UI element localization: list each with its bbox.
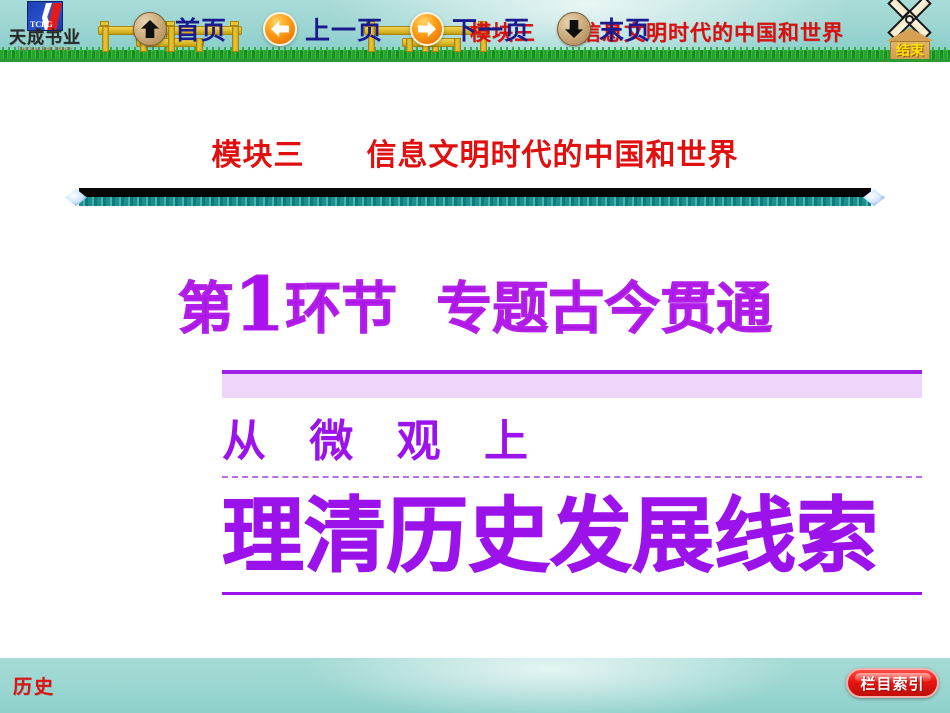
nav-prev-page[interactable]: 上一页	[263, 11, 383, 47]
nav-last-page-label[interactable]: 末页	[599, 11, 651, 47]
footer-band: 历史	[0, 658, 950, 713]
section-number: 1	[234, 262, 286, 348]
index-button-label: 栏目索引	[860, 673, 924, 694]
nav-prev-page-label[interactable]: 上一页	[305, 11, 383, 47]
slide-canvas: TCBG 天成书业 Tiancheng Book Industry 模块三 信息…	[0, 0, 950, 713]
logo-chinese-name: 天成书业	[6, 29, 84, 48]
nav-next-page-label[interactable]: 下一页	[452, 11, 530, 47]
dashed-divider	[222, 476, 922, 478]
page-title: 模块三 信息文明时代的中国和世界	[0, 130, 950, 174]
main-heading: 理清历史发展线索	[222, 488, 922, 586]
section-heading: 第1环节 专题古今贯通	[0, 275, 950, 340]
solid-divider	[222, 592, 922, 595]
logo-mark-icon: TCBG	[27, 1, 63, 31]
nav-next-page[interactable]: 下一页	[410, 11, 530, 47]
section-suffix: 环节 专题古今贯通	[285, 277, 772, 342]
publisher-logo: TCBG 天成书业 Tiancheng Book Industry	[6, 1, 84, 59]
end-button-label: 结束	[890, 42, 930, 60]
nav-first-page-label[interactable]: 首页	[175, 11, 227, 47]
section-prefix: 第	[178, 277, 234, 342]
subheading: 从 微 观 上	[222, 416, 922, 468]
decorative-divider	[65, 188, 885, 208]
arrow-left-icon[interactable]	[263, 12, 297, 46]
nav-first-page[interactable]: 首页	[133, 11, 227, 47]
arrow-right-icon[interactable]	[410, 12, 444, 46]
purple-band-divider	[222, 370, 922, 398]
windmill-icon[interactable]: 结束	[874, 0, 946, 62]
arrow-down-icon[interactable]	[557, 12, 591, 46]
nav-last-page[interactable]: 末页	[557, 11, 651, 47]
logo-english-name: Tiancheng Book Industry	[6, 47, 84, 52]
subject-brand-label: 历史	[13, 672, 55, 699]
arrow-up-icon[interactable]	[133, 12, 167, 46]
index-button[interactable]: 栏目索引	[846, 668, 939, 698]
